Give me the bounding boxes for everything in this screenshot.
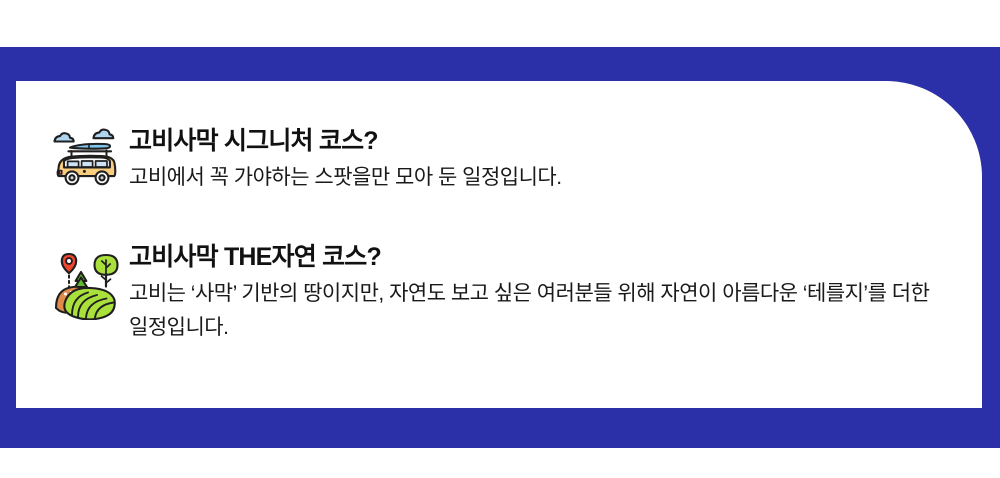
course-title: 고비사막 THE자연 코스?	[129, 242, 952, 273]
course-text-block: 고비사막 시그니처 코스? 고비에서 꼭 가야하는 스팟을만 모아 둔 일정입니…	[129, 126, 982, 195]
nature-hill-icon	[48, 246, 124, 325]
content-panel: 고비사막 시그니처 코스? 고비에서 꼭 가야하는 스팟을만 모아 둔 일정입니…	[16, 81, 982, 408]
course-title: 고비사막 시그니처 코스?	[129, 126, 952, 157]
course-description: 고비에서 꼭 가야하는 스팟을만 모아 둔 일정입니다.	[129, 161, 941, 195]
course-text-block: 고비사막 THE자연 코스? 고비는 ‘사막’ 기반의 땅이지만, 자연도 보고…	[129, 242, 982, 345]
course-description: 고비는 ‘사막’ 기반의 땅이지만, 자연도 보고 싶은 여러분들 위해 자연이…	[129, 277, 941, 345]
info-banner: 고비사막 시그니처 코스? 고비에서 꼭 가야하는 스팟을만 모아 둔 일정입니…	[0, 47, 1000, 448]
camper-van-icon	[48, 128, 124, 201]
course-item-nature[interactable]: 고비사막 THE자연 코스? 고비는 ‘사막’ 기반의 땅이지만, 자연도 보고…	[16, 242, 982, 345]
course-item-signature[interactable]: 고비사막 시그니처 코스? 고비에서 꼭 가야하는 스팟을만 모아 둔 일정입니…	[16, 126, 982, 201]
